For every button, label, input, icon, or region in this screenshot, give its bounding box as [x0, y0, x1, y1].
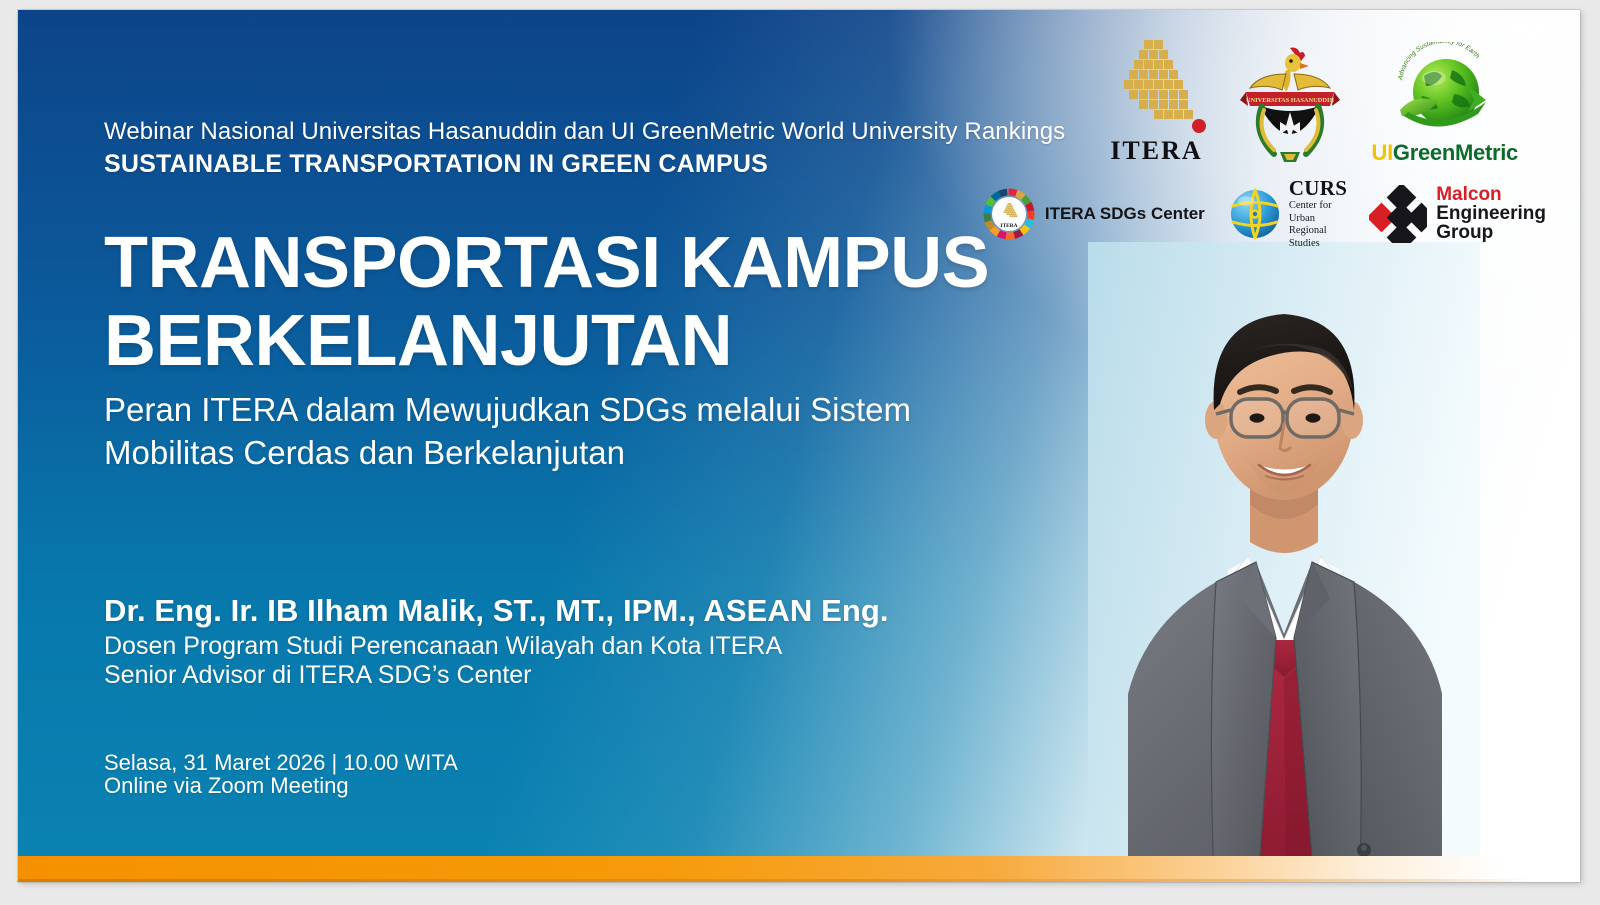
curs-sub-line-1: Center for: [1289, 200, 1347, 212]
itera-logo: ITERA: [1106, 34, 1208, 166]
page-title-line-2: BERKELANJUTAN: [104, 302, 1064, 380]
curs-globe-icon: [1227, 186, 1283, 242]
event-platform: Online via Zoom Meeting: [104, 773, 349, 799]
malcon-engineering-group-logo: Malcon Engineering Group: [1369, 185, 1546, 243]
screenshot-stage: ITERA UNIVERSITA: [0, 0, 1600, 905]
curs-logo: CURS Center for Urban Regional Studies: [1227, 178, 1347, 249]
greenmetric-green-text: GreenMetric: [1393, 140, 1518, 165]
speaker-role-line-2: Senior Advisor di ITERA SDG’s Center: [104, 661, 532, 690]
svg-text:UNIVERSITAS HASANUDDIN: UNIVERSITAS HASANUDDIN: [1245, 97, 1334, 104]
speaker-name: Dr. Eng. Ir. IB Ilham Malik, ST., MT., I…: [104, 593, 889, 629]
page-subtitle: Peran ITERA dalam Mewujudkan SDGs melalu…: [104, 388, 1024, 474]
logo-strip-top: ITERA UNIVERSITA: [1106, 34, 1519, 166]
page-subtitle-line-2: Mobilitas Cerdas dan Berkelanjutan: [104, 431, 1024, 474]
malcon-wordmark-line-3: Group: [1436, 223, 1546, 242]
curs-wordmark-block: CURS Center for Urban Regional Studies: [1289, 178, 1347, 249]
curs-sub-line-4: Studies: [1289, 238, 1347, 250]
malcon-wordmark-line-1: Malcon: [1436, 185, 1546, 204]
page-subtitle-line-1: Peran ITERA dalam Mewujudkan SDGs melalu…: [104, 391, 911, 428]
itera-wordmark: ITERA: [1110, 136, 1202, 166]
itera-mark-icon: [1106, 34, 1208, 142]
curs-sub-line-2: Urban: [1289, 213, 1347, 225]
greenmetric-globe-icon: Advancing Sustainability for Earth: [1382, 42, 1508, 146]
page-title: TRANSPORTASI KAMPUS BERKELANJUTAN: [104, 224, 1064, 380]
unhas-crest-icon: UNIVERSITAS HASANUDDIN: [1234, 44, 1346, 166]
curs-wordmark: CURS: [1289, 178, 1347, 199]
greenmetric-ui-text: UI: [1372, 140, 1393, 165]
malcon-diamonds-icon: [1369, 185, 1427, 243]
event-kicker-line-2: SUSTAINABLE TRANSPORTATION IN GREEN CAMP…: [104, 150, 768, 179]
presentation-slide: ITERA UNIVERSITA: [18, 10, 1580, 882]
slide-text-column: Webinar Nasional Universitas Hasanuddin …: [104, 10, 1114, 882]
speaker-portrait: [1088, 242, 1480, 882]
event-kicker-line-1: Webinar Nasional Universitas Hasanuddin …: [104, 118, 1065, 146]
page-title-line-1: TRANSPORTASI KAMPUS: [104, 223, 989, 303]
speaker-role-line-1: Dosen Program Studi Perencanaan Wilayah …: [104, 632, 782, 661]
greenmetric-wordmark: UIGreenMetric: [1372, 140, 1519, 166]
unhas-crest-logo: UNIVERSITAS HASANUDDIN: [1234, 44, 1346, 166]
curs-sub-line-3: Regional: [1289, 225, 1347, 237]
malcon-wordmark-block: Malcon Engineering Group: [1436, 185, 1546, 242]
malcon-wordmark-line-2: Engineering: [1436, 204, 1546, 223]
ui-greenmetric-logo: Advancing Sustainability for Earth UIGre: [1372, 42, 1519, 166]
